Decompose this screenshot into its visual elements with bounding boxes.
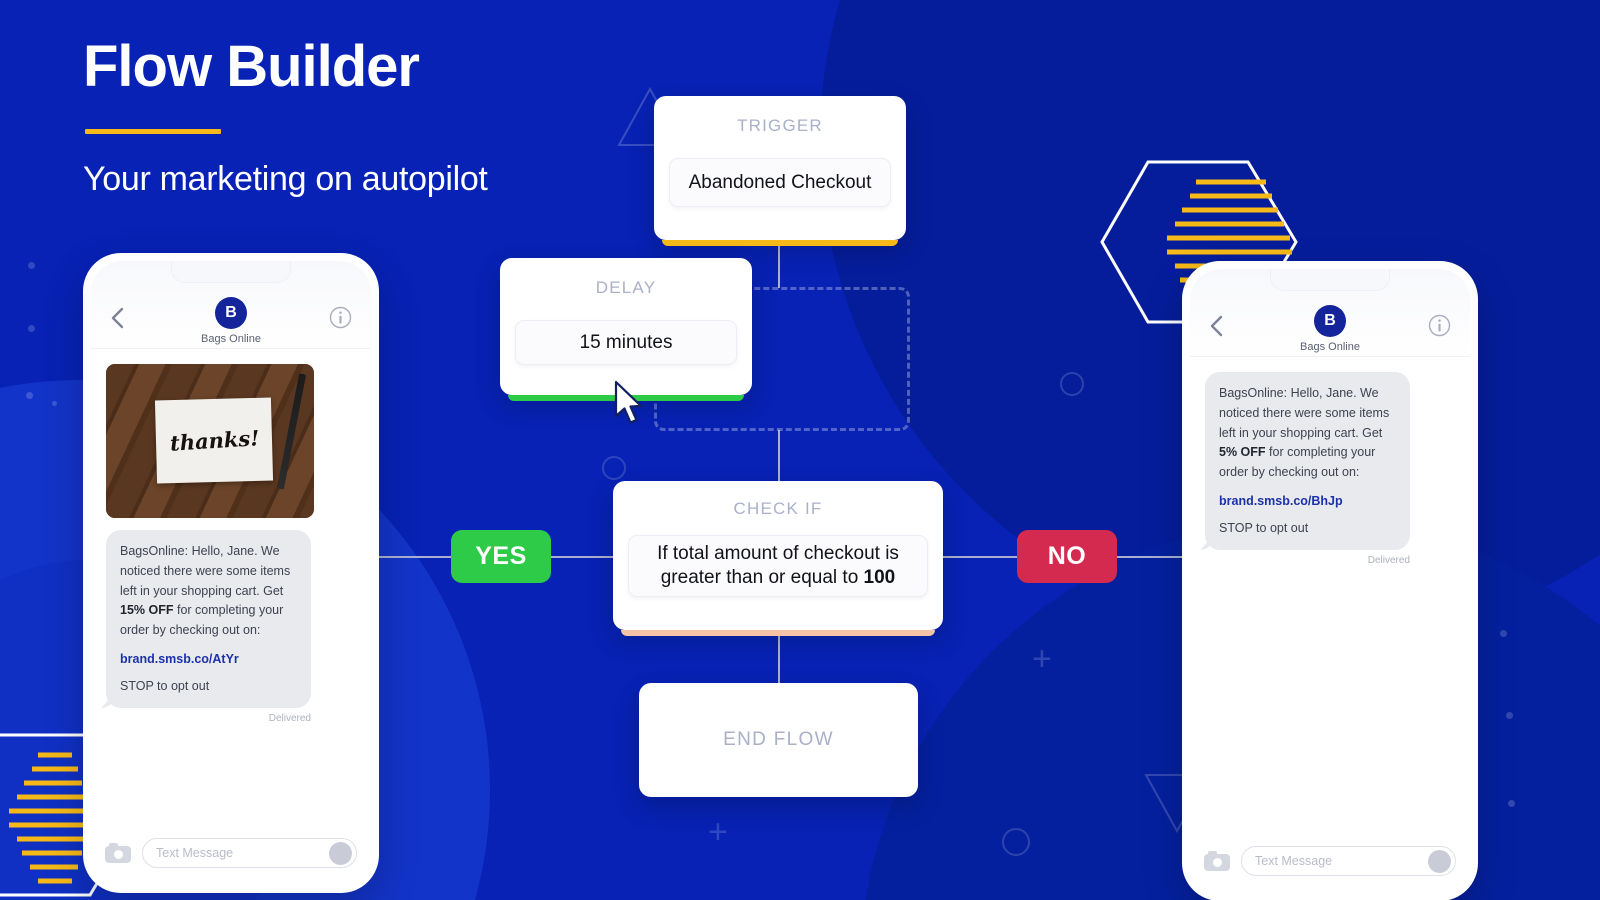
- title-underline: [85, 129, 221, 134]
- delivered-status: Delivered: [1205, 555, 1410, 566]
- node-delay-kicker: DELAY: [596, 278, 657, 298]
- phone-left-conversation: thanks! BagsOnline: Hello, Jane. We noti…: [91, 349, 371, 821]
- mic-icon[interactable]: [1428, 850, 1451, 873]
- message-opt-out: STOP to opt out: [1219, 519, 1396, 539]
- phone-notch: [171, 261, 291, 283]
- text-message-placeholder: Text Message: [156, 846, 329, 860]
- message-line-1: BagsOnline: Hello, Jane. We noticed ther…: [120, 544, 290, 598]
- text-message-placeholder: Text Message: [1255, 854, 1428, 868]
- phone-notch: [1270, 269, 1390, 291]
- node-delay-value[interactable]: 15 minutes: [515, 320, 737, 365]
- connector-check-to-end: [778, 630, 780, 683]
- avatar: B: [215, 297, 247, 329]
- phone-preview-right: B Bags Online BagsOnline: Hello, Jane. W…: [1182, 261, 1478, 900]
- camera-icon[interactable]: [1204, 851, 1230, 871]
- phone-preview-left: B Bags Online thanks! BagsOnline: Hello,…: [83, 253, 379, 893]
- mouse-cursor-icon: [613, 380, 647, 431]
- node-delay[interactable]: DELAY 15 minutes: [500, 258, 752, 395]
- message-bubble: BagsOnline: Hello, Jane. We noticed ther…: [1205, 372, 1410, 550]
- phone-left-header: B Bags Online: [91, 261, 371, 349]
- camera-icon[interactable]: [105, 843, 131, 863]
- avatar-letter: B: [225, 304, 237, 322]
- node-check-if-kicker: CHECK IF: [734, 499, 823, 519]
- chevron-left-icon[interactable]: [1210, 315, 1223, 342]
- mic-icon[interactable]: [329, 842, 352, 865]
- node-trigger-kicker: TRIGGER: [737, 116, 823, 136]
- avatar: B: [1314, 305, 1346, 337]
- mms-image: thanks!: [106, 364, 314, 518]
- message-discount: 15% OFF: [120, 603, 174, 617]
- message-opt-out: STOP to opt out: [120, 677, 297, 697]
- text-message-input[interactable]: Text Message: [1241, 846, 1456, 876]
- message-link[interactable]: brand.smsb.co/BhJp: [1219, 492, 1396, 512]
- branch-no-badge[interactable]: NO: [1017, 530, 1117, 583]
- message-line-1: BagsOnline: Hello, Jane. We noticed ther…: [1219, 386, 1389, 440]
- connector-trigger-to-delay: [778, 240, 780, 288]
- mms-note-text: thanks!: [169, 426, 260, 456]
- page-title: Flow Builder: [83, 38, 488, 96]
- branch-yes-badge[interactable]: YES: [451, 530, 551, 583]
- node-trigger-value[interactable]: Abandoned Checkout: [669, 158, 891, 207]
- node-check-if[interactable]: CHECK IF If total amount of checkout is …: [613, 481, 943, 630]
- text-message-input[interactable]: Text Message: [142, 838, 357, 868]
- phone-left-composer: Text Message: [91, 821, 371, 885]
- page-subtitle: Your marketing on autopilot: [83, 160, 488, 199]
- info-icon[interactable]: [1428, 314, 1451, 342]
- phone-right-composer: Text Message: [1190, 829, 1470, 893]
- delivered-status: Delivered: [106, 713, 311, 724]
- info-icon[interactable]: [329, 306, 352, 334]
- page-header: Flow Builder Your marketing on autopilot: [83, 38, 488, 199]
- phone-right-conversation: BagsOnline: Hello, Jane. We noticed ther…: [1190, 357, 1470, 829]
- phone-right-header: B Bags Online: [1190, 269, 1470, 357]
- message-discount: 5% OFF: [1219, 445, 1266, 459]
- contact-name: Bags Online: [1300, 341, 1360, 353]
- contact-name: Bags Online: [201, 333, 261, 345]
- node-check-if-accent: [621, 630, 935, 636]
- condition-amount: 100: [864, 567, 896, 588]
- node-end-flow-kicker: END FLOW: [723, 729, 834, 751]
- node-end-flow[interactable]: END FLOW: [639, 683, 918, 797]
- node-trigger[interactable]: TRIGGER Abandoned Checkout: [654, 96, 906, 240]
- node-trigger-accent: [662, 240, 898, 246]
- avatar-letter: B: [1324, 312, 1336, 330]
- chevron-left-icon[interactable]: [111, 307, 124, 334]
- message-bubble: BagsOnline: Hello, Jane. We noticed ther…: [106, 530, 311, 708]
- message-link[interactable]: brand.smsb.co/AtYr: [120, 650, 297, 670]
- node-check-if-condition[interactable]: If total amount of checkout is greater t…: [628, 535, 928, 597]
- connector-delay-to-check: [778, 430, 780, 482]
